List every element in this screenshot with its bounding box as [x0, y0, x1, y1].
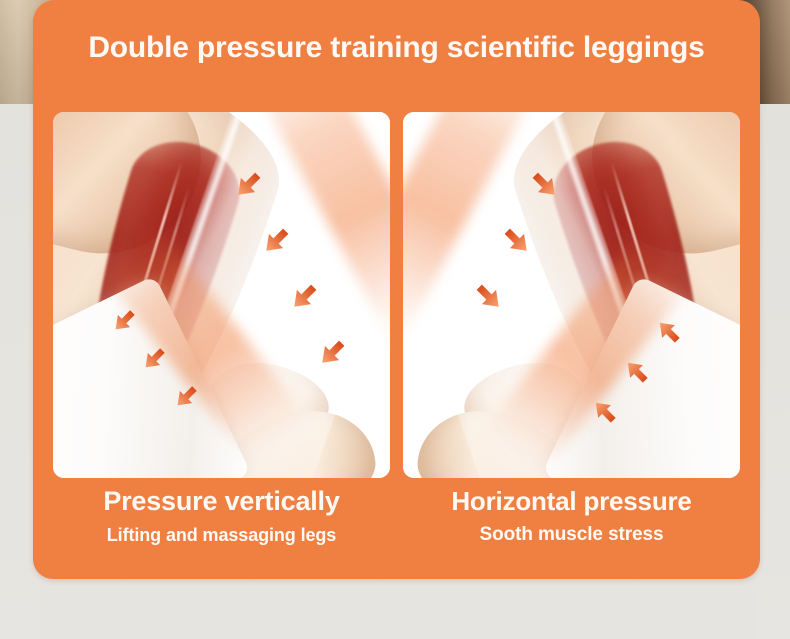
card-title: Double pressure training scientific legg…: [33, 26, 760, 70]
panel-row: [53, 112, 740, 478]
caption-main-text: Pressure vertically: [53, 482, 390, 520]
caption-sub-text: Lifting and massaging legs: [53, 520, 390, 550]
panel-horizontal-pressure[interactable]: [403, 112, 740, 478]
background-lower-right: [756, 104, 790, 639]
leg-photo-vertical: [53, 112, 390, 478]
caption-main-text: Horizontal pressure: [403, 482, 740, 520]
caption-vertical-pressure: Pressure vertically Lifting and massagin…: [53, 482, 390, 574]
caption-row: Pressure vertically Lifting and massagin…: [53, 482, 740, 574]
product-feature-card: Double pressure training scientific legg…: [33, 0, 760, 579]
caption-horizontal-pressure: Horizontal pressure Sooth muscle stress: [403, 482, 740, 574]
leg-photo-horizontal: [403, 112, 740, 478]
panel-vertical-pressure[interactable]: [53, 112, 390, 478]
infographic-stage: Double pressure training scientific legg…: [0, 0, 790, 639]
caption-sub-text: Sooth muscle stress: [403, 520, 740, 550]
